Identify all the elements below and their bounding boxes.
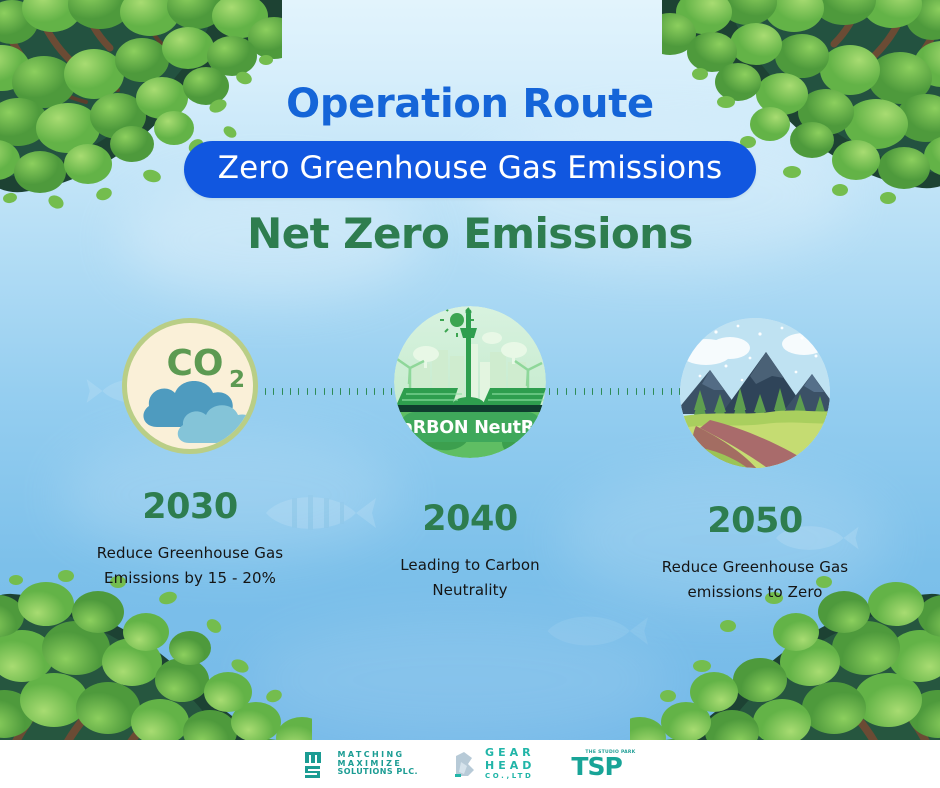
gear-head-line-3: CO.,LTD (485, 773, 535, 781)
milestone-year: 2040 (355, 502, 585, 537)
milestone-2040[interactable]: CaRBON NeutRal 2040 Leading to Carbon Ne… (355, 300, 585, 603)
milestone-description: Reduce Greenhouse Gas emissions to Zero (610, 555, 900, 605)
co2-cloud-icon: CO 2 (122, 318, 258, 454)
gear-head-mark-icon (454, 750, 478, 778)
timeline: CO 2 2030 Reduce Greenhouse Gas Emission… (0, 300, 940, 630)
mms-monogram-icon (305, 751, 331, 778)
status-badge: Zero Greenhouse Gas Emissions (184, 141, 756, 198)
poster-header: Operation Route Zero Greenhouse Gas Emis… (0, 0, 940, 255)
carbon-neutral-label: CaRBON NeutRal (394, 418, 546, 438)
desc-line-2: emissions to Zero (610, 580, 900, 605)
desc-line-2: Neutrality (355, 578, 585, 603)
desc-line-2: Emissions by 15 - 20% (45, 566, 335, 591)
gear-head-line-2: HEAD (485, 760, 535, 772)
milestone-2030[interactable]: CO 2 2030 Reduce Greenhouse Gas Emission… (45, 300, 335, 591)
page-title: Operation Route (0, 84, 940, 124)
co2-label: CO (166, 343, 223, 384)
mountain-landscape-icon (680, 318, 830, 468)
tsp-wordmark: TSP (571, 755, 621, 779)
matching-maximize-solutions-logo[interactable]: MATCHING MAXIMIZE SOLUTIONS PLC. (305, 751, 419, 778)
footer-logo-bar: MATCHING MAXIMIZE SOLUTIONS PLC. GEAR HE… (0, 740, 940, 788)
milestone-year: 2030 (45, 490, 335, 525)
desc-line-1: Leading to Carbon (355, 553, 585, 578)
gear-head-logo[interactable]: GEAR HEAD CO.,LTD (454, 747, 535, 781)
mms-line-3: SOLUTIONS PLC. (338, 768, 419, 777)
gear-head-line-1: GEAR (485, 747, 535, 759)
co2-subscript: 2 (229, 367, 245, 393)
desc-line-1: Reduce Greenhouse Gas (45, 541, 335, 566)
page-subtitle: Net Zero Emissions (0, 213, 940, 255)
milestone-year: 2050 (610, 504, 900, 539)
tsp-logo-text: THE STUDIO PARK TSP (571, 750, 635, 779)
milestone-2050[interactable]: 2050 Reduce Greenhouse Gas emissions to … (610, 300, 900, 605)
milestone-description: Leading to Carbon Neutrality (355, 553, 585, 603)
gear-head-logo-text: GEAR HEAD CO.,LTD (485, 747, 535, 781)
desc-line-1: Reduce Greenhouse Gas (610, 555, 900, 580)
tsp-studio-park-logo[interactable]: THE STUDIO PARK TSP (571, 750, 635, 779)
mms-logo-text: MATCHING MAXIMIZE SOLUTIONS PLC. (338, 751, 419, 778)
milestone-description: Reduce Greenhouse Gas Emissions by 15 - … (45, 541, 335, 591)
carbon-neutral-globe-icon: CaRBON NeutRal (394, 306, 546, 458)
